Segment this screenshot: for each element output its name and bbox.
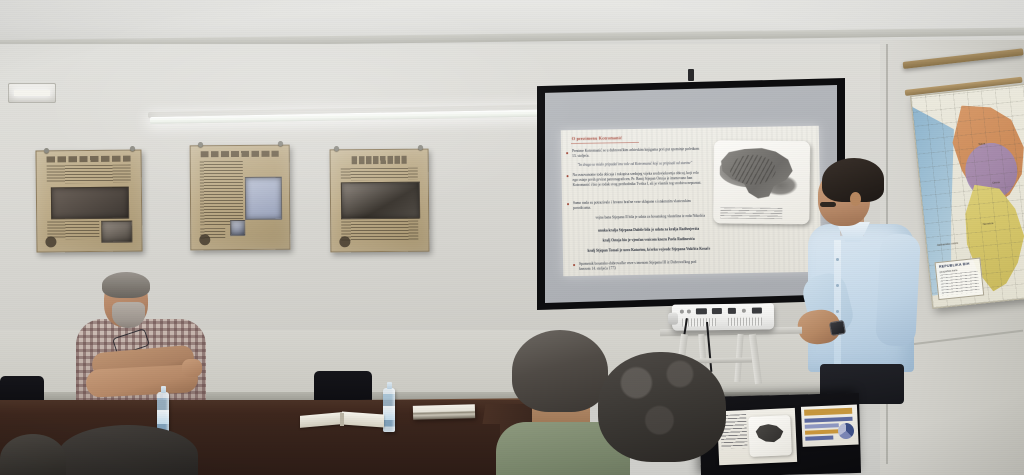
poster-heading-band	[200, 151, 278, 158]
audience-3-description: dark hair, foreground, seen from behind	[58, 425, 59, 426]
audience-4-description: dark hair, far foreground corner, seen f…	[0, 434, 1, 435]
poster-text-block	[340, 168, 418, 181]
projector-vent	[728, 317, 762, 325]
audience-member-3: dark hair, foreground, seen from behind	[58, 425, 198, 475]
slide-bullet-2: Na osnovanome toda obicaja i rukopisa sr…	[572, 171, 704, 189]
projector-label: ceiling-free desktop projector	[672, 305, 673, 306]
audience-2-hair	[598, 352, 726, 462]
paper-stack[interactable]: stack of papers and books	[413, 404, 475, 420]
projector-knob	[742, 308, 746, 312]
poster-group-photo	[341, 182, 421, 219]
bottle-label	[157, 410, 169, 424]
projector-port-usb[interactable]	[728, 308, 736, 314]
wall-poster-3-heading: NARODNI OBICAJI I NOSNJA	[331, 150, 332, 151]
map-label-0: Sava	[978, 141, 985, 146]
slide-bullet-1: "In drugo se mislo pripadal ime tole od …	[577, 161, 705, 168]
projector-port-hdmi[interactable]	[696, 308, 707, 314]
slide-bullet-6: kralj Ostoja bio je vjenčan vezicom knez…	[589, 237, 709, 244]
poster-text-block	[47, 165, 130, 184]
wall-poster-1: ZBIRKA RUKOPISA	[35, 149, 142, 252]
poster-photo-2	[102, 221, 132, 243]
poster-seal	[199, 234, 210, 245]
audience-member-4: dark hair, far foreground corner, seen f…	[0, 434, 66, 475]
poster-photo-2	[230, 220, 245, 235]
poster-manuscript-facsimile	[245, 177, 283, 220]
map-legend: REPUBLIKA BiH geografska karta	[935, 258, 985, 301]
presenter-ear	[850, 192, 861, 206]
audience-2-description: dark curly hair, seen from behind	[598, 352, 599, 353]
projector-port-vga[interactable]	[712, 308, 722, 314]
laptop-current-slide-thumbnail[interactable]: current slide thumbnail	[717, 408, 797, 465]
slide-bullet-7: kralj Stjepan Tomaš je uzeo Katarinu, kć…	[587, 247, 711, 254]
seated-moderator-hand	[182, 359, 202, 377]
presenter-shirt-button	[836, 284, 839, 287]
projector-lens	[668, 313, 678, 325]
slide-bullet-4: vojna bana Stjepana II bila je udata za …	[590, 214, 710, 221]
slide-bullet-dot	[573, 264, 575, 266]
presenter-shirt-button	[836, 258, 839, 261]
wall-poster-3: NARODNI OBICAJI I NOSNJA	[330, 149, 430, 253]
laptop-slide-2-label: next slide thumbnail with chart	[801, 407, 802, 408]
audience-1-description: short grey hair, olive green t-shirt, se…	[506, 330, 507, 331]
thumbnail-artifact-image	[748, 415, 792, 457]
projector: ceiling-free desktop projector	[672, 303, 774, 330]
poster-heading-band	[352, 156, 406, 165]
seated-moderator-hair	[102, 272, 150, 298]
seated-moderator-beard	[112, 302, 145, 328]
slide-title: O prezimenu Kotromanić	[572, 135, 622, 141]
presenter-shirt-button	[836, 310, 839, 313]
slide-bullet-8: Spomenik bosansko-dubrovačke veze s imen…	[579, 260, 707, 272]
projected-slide: O prezimenu Kotromanić Prezime Kotromani…	[561, 126, 822, 276]
presenter-right-sleeve	[875, 233, 921, 347]
presenter-wristwatch	[829, 320, 846, 336]
thumbnail-bar	[805, 423, 839, 428]
presentation-room-photo: ZBIRKA RUKOPISA DUBROVACKI RUKOPISI NARO…	[0, 0, 1024, 475]
laptop-next-slide-thumbnail[interactable]: next slide thumbnail with chart	[801, 404, 859, 446]
thumbnail-title-bar	[804, 408, 852, 416]
slide-bullet-dot	[567, 203, 569, 205]
slide-bullet-0: Prezime Kotromanić se u dubrovačkim arhi…	[572, 147, 702, 159]
map-label-1: Drina	[992, 180, 1000, 185]
wall-lamp	[8, 83, 56, 103]
poster-heading-band	[47, 156, 130, 163]
water-bottle-right-label: plastic water bottle	[383, 388, 384, 389]
slide-photo-text	[720, 207, 782, 219]
poster-pin	[130, 146, 135, 151]
wall-poster-2: DUBROVACKI RUKOPISI	[190, 145, 291, 251]
audience-3-hair	[58, 425, 198, 475]
book-page-right	[342, 412, 384, 428]
slide-title-rule	[571, 142, 639, 144]
presenter-moustache	[820, 202, 836, 207]
poster-seal	[339, 236, 350, 247]
poster-text-block-2	[341, 220, 419, 241]
screen-ceiling-mount	[688, 69, 694, 81]
wall-poster-2-heading: DUBROVACKI RUKOPISI	[191, 146, 192, 147]
slide-bullet-3: Samo nada su potrazivalo i hrvano bračne…	[573, 199, 705, 211]
audience-4-hair	[0, 434, 66, 475]
thumbnail-pie-chart	[838, 423, 855, 440]
projector-knob	[687, 309, 691, 313]
poster-pin	[44, 148, 49, 153]
projector-knob	[680, 309, 684, 313]
thumbnail-bar	[804, 417, 852, 423]
poster-photo	[50, 187, 129, 220]
presenter-person: man with dark hair and moustache in ligh…	[792, 158, 924, 400]
water-bottle-left-label: plastic water bottle	[157, 392, 158, 393]
bottle-label	[383, 406, 395, 420]
poster-pin	[198, 142, 203, 147]
slide-bullet-dot	[566, 152, 568, 154]
paper-stack-label: stack of papers and books	[413, 406, 414, 407]
presenter-description: man with dark hair and moustache in ligh…	[792, 158, 793, 159]
poster-pin	[334, 146, 339, 151]
slide-bullet-dot	[567, 175, 569, 177]
open-book[interactable]: open book on table	[300, 411, 384, 427]
open-book-label: open book on table	[300, 411, 301, 412]
audience-member-2: dark curly hair, seen from behind	[598, 352, 728, 475]
slide-photo-caption: stone relief / carved stećak fragment	[714, 140, 715, 141]
poster-text-block	[200, 161, 244, 225]
poster-pin	[278, 141, 283, 146]
map-legend-rows	[940, 271, 980, 296]
poster-seal	[46, 236, 57, 247]
book-spine	[340, 413, 344, 426]
thumbnail-bar	[805, 436, 833, 441]
slide-bullet-5: unuka kralja Stjepana Dabiše bila je uda…	[586, 227, 710, 234]
projector-port-power[interactable]	[752, 307, 762, 313]
seated-moderator-description: older man with grey beard, checkered sho…	[72, 275, 73, 276]
audience-1-hair	[512, 330, 608, 412]
water-bottle-right[interactable]: plastic water bottle	[383, 388, 395, 432]
poster-pin	[418, 145, 423, 150]
wall-poster-1-heading: ZBIRKA RUKOPISA	[36, 152, 37, 153]
poster-text-block-2	[48, 221, 100, 240]
book-page-left	[300, 412, 342, 428]
